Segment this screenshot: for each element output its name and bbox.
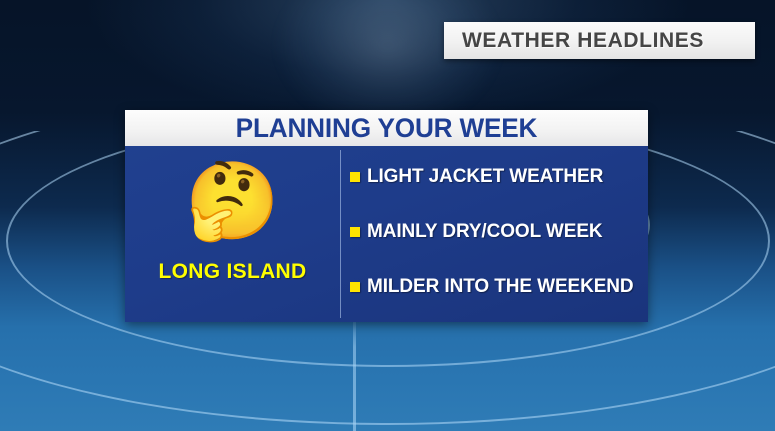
weather-headlines-label: WEATHER HEADLINES — [462, 29, 704, 53]
list-item: MAINLY DRY/COOL WEEK — [350, 205, 648, 260]
region-column: 🤔 LONG ISLAND — [125, 146, 340, 322]
panel-vertical-divider — [340, 150, 341, 318]
list-item-label: MILDER INTO THE WEEKEND — [367, 276, 634, 298]
panel-title-bar: PLANNING YOUR WEEK — [125, 110, 648, 146]
list-item: LIGHT JACKET WEATHER — [350, 150, 648, 205]
region-label: LONG ISLAND — [159, 260, 307, 284]
page-title: PLANNING YOUR WEEK — [236, 113, 538, 144]
forecast-bullet-list: LIGHT JACKET WEATHER MAINLY DRY/COOL WEE… — [340, 146, 648, 322]
list-item-label: MAINLY DRY/COOL WEEK — [367, 221, 603, 243]
square-bullet-icon — [350, 282, 360, 292]
weather-graphic-stage: WEATHER HEADLINES PLANNING YOUR WEEK 🤔 L… — [0, 0, 775, 431]
planning-panel: PLANNING YOUR WEEK 🤔 LONG ISLAND LIGHT J… — [125, 110, 648, 322]
panel-body: 🤔 LONG ISLAND LIGHT JACKET WEATHER MAINL… — [125, 146, 648, 322]
square-bullet-icon — [350, 172, 360, 182]
list-item: MILDER INTO THE WEEKEND — [350, 259, 648, 314]
thinking-face-icon: 🤔 — [185, 156, 280, 248]
list-item-label: LIGHT JACKET WEATHER — [367, 166, 603, 188]
square-bullet-icon — [350, 227, 360, 237]
weather-headlines-bar: WEATHER HEADLINES — [444, 22, 755, 59]
